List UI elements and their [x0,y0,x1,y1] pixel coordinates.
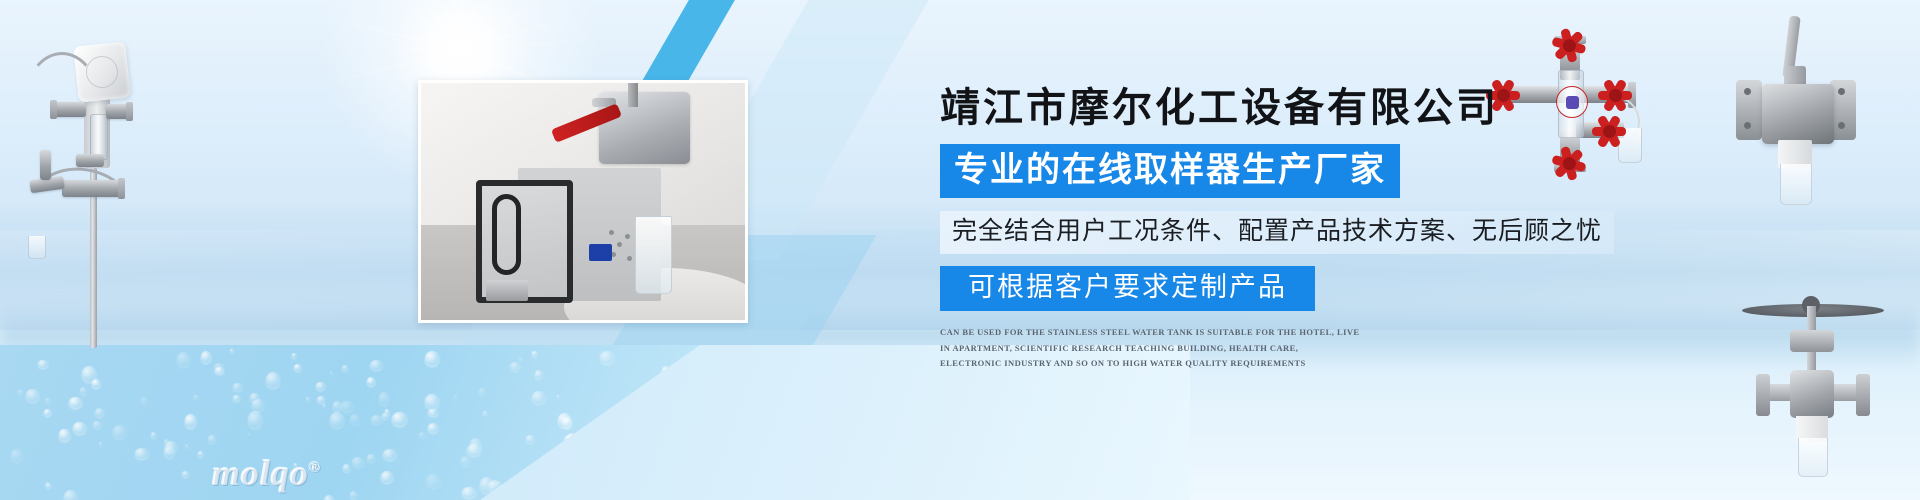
promotional-banner: 靖江市摩尔化工设备有限公司 专业的在线取样器生产厂家 完全结合用户工况条件、配置… [0,0,1920,500]
english-description: CAN BE USED FOR THE STAINLESS STEEL WATE… [940,325,1360,372]
lever-valve-body [1762,84,1834,144]
sampler-valve-3 [76,154,104,167]
handwheel-valve-product-image [1738,288,1888,488]
tagline-badge: 可根据客户要求定制产品 [940,266,1315,311]
photo-sampling-valve [599,92,690,163]
registered-trademark-icon: ® [309,460,321,476]
lever-valve-product-image [1700,22,1900,217]
handwheel-valve-arm-left [1768,384,1792,401]
sampler-valve-4 [62,180,122,197]
sampler-relief-valve [40,150,51,180]
handwheel-valve-body [1790,370,1834,418]
photo-valve-stem [628,83,638,107]
sampler-tubing-upper [24,52,100,150]
handwheel-valve-bonnet [1790,330,1834,352]
company-name: 靖江市摩尔化工设备有限公司 [940,86,1600,130]
photo-door-handle [492,194,521,275]
banner-text-block: 靖江市摩尔化工设备有限公司 专业的在线取样器生产厂家 完全结合用户工况条件、配置… [940,86,1600,372]
photo-door-latch [486,280,528,301]
photo-sample-bottle [635,216,673,294]
handwheel-valve-flange-right [1856,374,1870,416]
lever-valve-sample-jar [1780,164,1812,205]
sampler-sample-jar [28,236,46,259]
center-product-photo-card [418,80,748,323]
sampler-flange-2 [126,102,133,121]
subheadline-badge: 完全结合用户工况条件、配置产品技术方案、无后顾之忧 [940,211,1614,254]
sampler-flange-1 [50,100,57,119]
watermark-brand: molqo [212,453,309,493]
photo-blue-cap [589,244,612,261]
handwheel-valve-flange-left [1756,374,1770,416]
handwheel-valve-arm-right [1834,384,1858,401]
cross-handwheel-right [1598,78,1632,112]
handwheel-valve-sample-jar [1798,438,1828,477]
lever-valve-flange-left [1736,80,1762,140]
headline-badge: 专业的在线取样器生产厂家 [940,144,1400,198]
left-sampler-product-image [6,18,186,348]
sampler-valve-1 [52,102,86,117]
center-product-photo [421,83,745,320]
brand-watermark: molqo® [212,452,321,494]
cross-handwheel-top [1548,24,1590,66]
sampler-flange-3 [118,178,125,199]
